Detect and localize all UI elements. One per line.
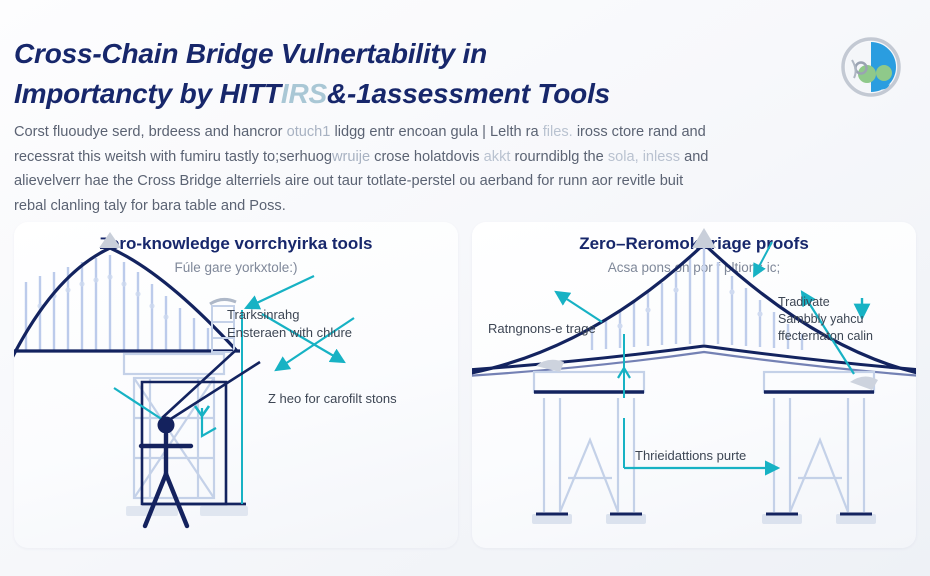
annotation-left-1: Trarksinrahg Ensteraen with chlure <box>227 306 352 341</box>
para-l1-faint: otuch1 <box>287 124 331 140</box>
bridge-diagram-left <box>14 222 458 548</box>
para-l2-b: crose holatdovis <box>374 149 479 165</box>
annotation-left-1-line-1: Trarksinrahg <box>227 306 352 324</box>
para-l1-faint2: files. <box>543 124 573 140</box>
annotation-left-2-line-1: Z heo for carofilt stons <box>268 390 397 408</box>
annotation-right-2: Tradivate Sambbly yahcu ffecternaton cal… <box>778 294 873 345</box>
globe-network-logo-icon <box>834 30 908 104</box>
annotation-left-2: Z heo for carofilt stons <box>268 390 397 408</box>
panel-row: Zero-knowledge vorrchyirka tools Fúle ga… <box>14 222 916 548</box>
annotation-right-3: Thrieidattions purte <box>635 447 746 465</box>
para-l2-a: recessrat this weitsh with fumiru tastly… <box>14 149 332 165</box>
annotation-right-1-line-1: Ratngnons-e trage <box>488 320 596 338</box>
page-title: Cross-Chain Bridge Vulnertability in Imp… <box>14 34 804 114</box>
intro-paragraph-line-2: recessrat this weitsh with fumiru tastly… <box>14 145 914 170</box>
panel-zero-knowledge-tools[interactable]: Zero-knowledge vorrchyirka tools Fúle ga… <box>14 222 458 548</box>
para-l2-faint2: akkt <box>484 149 511 165</box>
para-l1-b: lidgg entr encoan gula | Lelth ra <box>334 124 538 140</box>
para-l2-faint: wruije <box>332 149 370 165</box>
page-header: Cross-Chain Bridge Vulnertability in Imp… <box>14 34 804 114</box>
annotation-right-2-line-1: Tradivate <box>778 294 873 311</box>
page-title-line-2-b: &-1assessment Tools <box>327 78 610 109</box>
panel-zero-knowledge-proofs[interactable]: Zero–Reromoklrriage proofs Acsa pons on … <box>472 222 916 548</box>
intro-paragraph-line-4: rebal clanling taly for bara table and P… <box>14 194 914 219</box>
para-l2-faint3: sola, inless <box>608 149 680 165</box>
intro-paragraph: Corst fluoudye serd, brdeess and hancror… <box>14 120 914 218</box>
annotation-right-2-line-3: ffecternaton calin <box>778 328 873 345</box>
intro-paragraph-line-1: Corst fluoudye serd, brdeess and hancror… <box>14 120 914 145</box>
annotation-right-1: Ratngnons-e trage <box>488 320 596 338</box>
para-l1-a: Corst fluoudye serd, brdeess and hancror <box>14 124 283 140</box>
annotation-right-2-line-2: Sambbly yahcu <box>778 311 873 328</box>
intro-paragraph-line-3: alievelverr hae the Cross Bridge alterri… <box>14 169 914 194</box>
page-title-line-1: Cross-Chain Bridge Vulnertability in <box>14 34 804 74</box>
para-l1-c: iross ctore rand and <box>577 124 706 140</box>
page-title-line-2-a: Importancty by HITT <box>14 78 281 109</box>
page-title-ghost-text: IRS <box>281 78 327 109</box>
para-l2-d: and <box>684 149 708 165</box>
annotation-left-1-line-2: Ensteraen with chlure <box>227 324 352 342</box>
bridge-diagram-right <box>472 222 916 548</box>
para-l2-c: rourndiblg the <box>515 149 604 165</box>
page-title-line-2: Importancty by HITTIRS&-1assessment Tool… <box>14 74 804 114</box>
annotation-right-3-line-1: Thrieidattions purte <box>635 447 746 465</box>
